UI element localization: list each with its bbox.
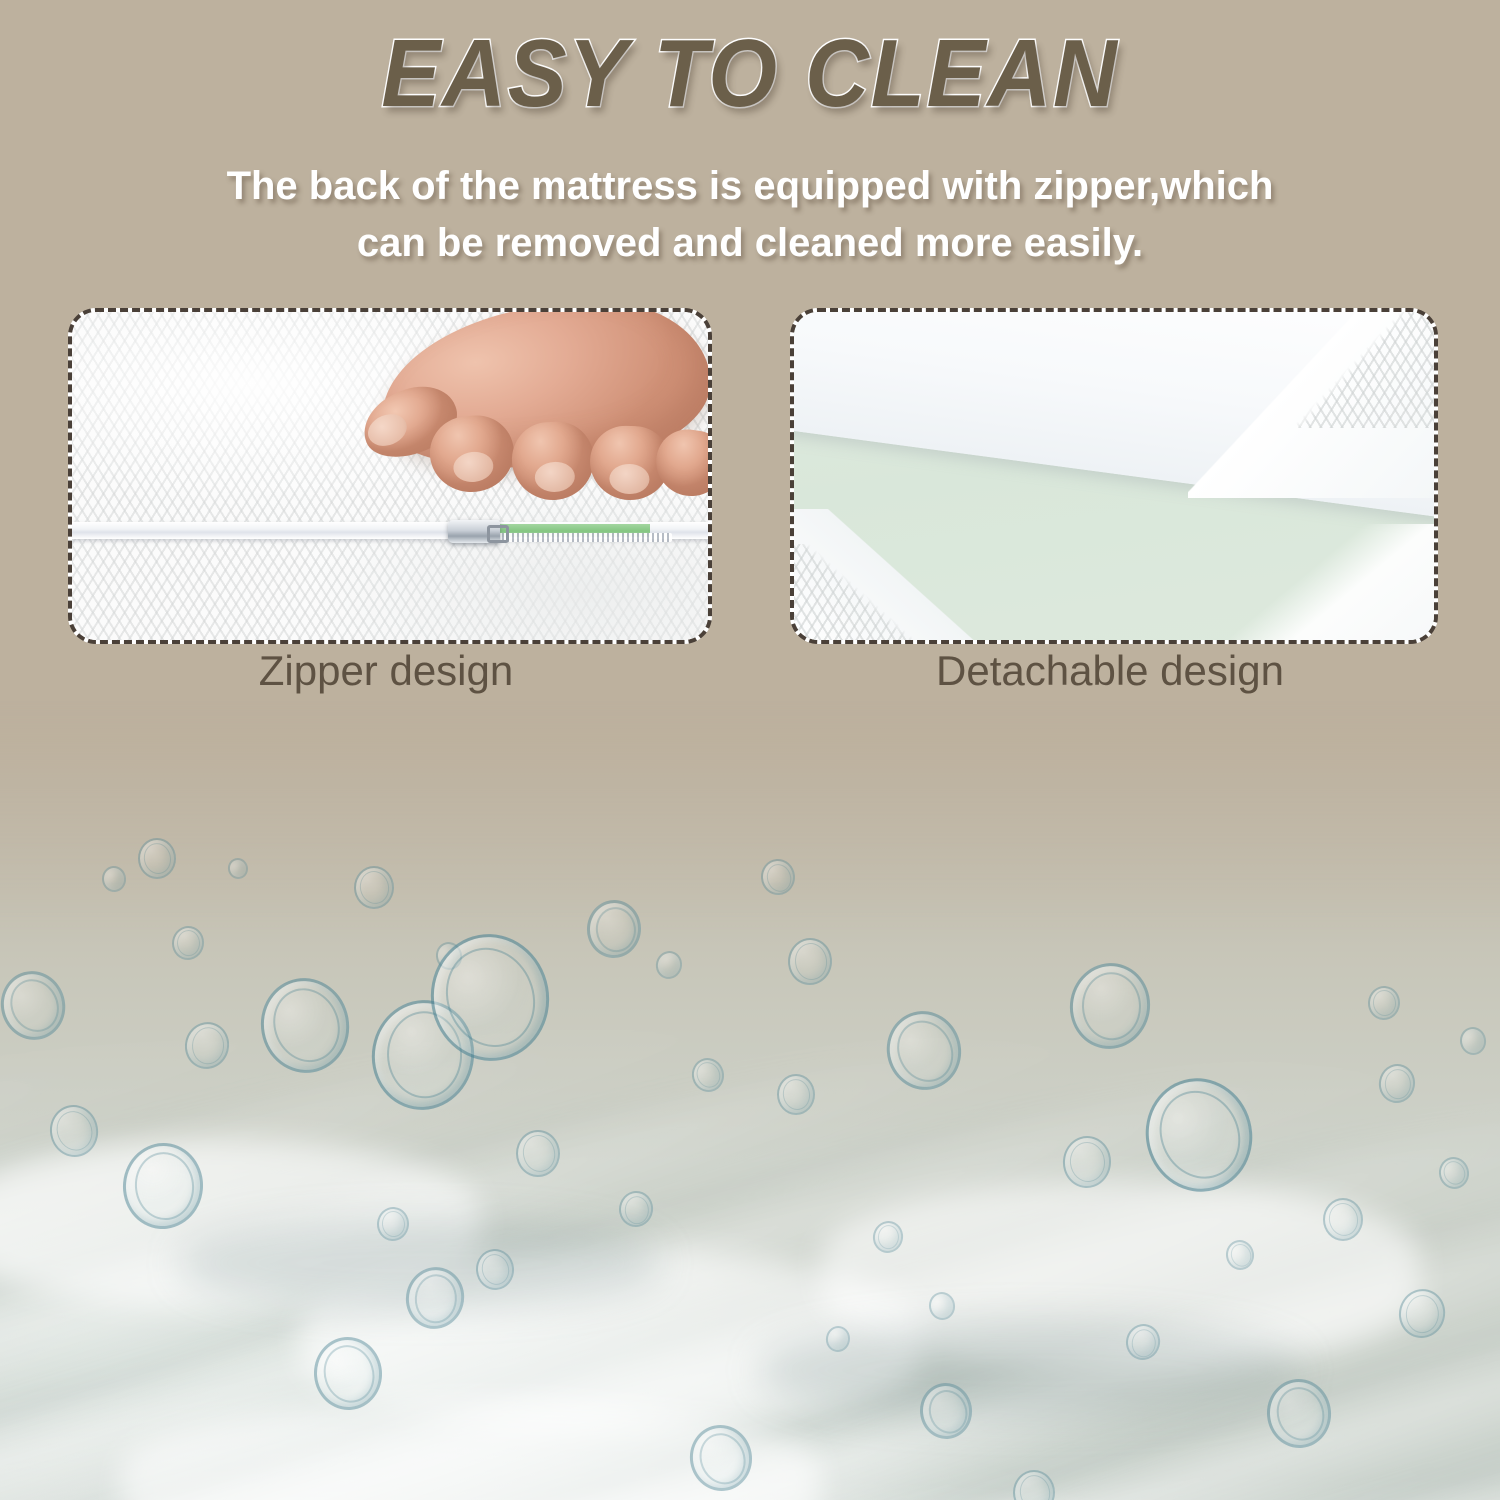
- thumb-nail: [363, 409, 411, 452]
- caption-zipper-design: Zipper design: [68, 648, 704, 694]
- panel-detachable-design: [790, 308, 1438, 644]
- hand-finger: [510, 420, 596, 502]
- page-subtitle: The back of the mattress is equipped wit…: [120, 158, 1380, 272]
- bubble: [354, 866, 394, 909]
- bubble: [516, 1130, 560, 1177]
- mattress-cover-corner-bottom-left: [790, 509, 1000, 644]
- mattress-cover-corner-top-right: [1188, 308, 1438, 498]
- finger-nail: [534, 461, 576, 493]
- hand-pulling-zipper: [360, 308, 712, 566]
- mattress-cover-corner-bottom-right: [1208, 524, 1438, 644]
- infographic-canvas: EASY TO CLEAN The back of the mattress i…: [0, 0, 1500, 1500]
- quilt-texture-patch: [1278, 308, 1438, 428]
- subtitle-line-2: can be removed and cleaned more easily.: [357, 221, 1143, 265]
- quilt-texture-patch: [790, 544, 940, 644]
- page-title: EASY TO CLEAN: [60, 24, 1440, 125]
- bubble: [777, 1074, 815, 1115]
- finger-nail: [452, 450, 495, 484]
- caption-detachable-design: Detachable design: [790, 648, 1430, 694]
- finger-nail: [609, 463, 650, 494]
- subtitle-line-1: The back of the mattress is equipped wit…: [227, 164, 1274, 208]
- panel-zipper-design: [68, 308, 712, 644]
- bubble: [1323, 1198, 1363, 1241]
- bubble: [138, 838, 176, 879]
